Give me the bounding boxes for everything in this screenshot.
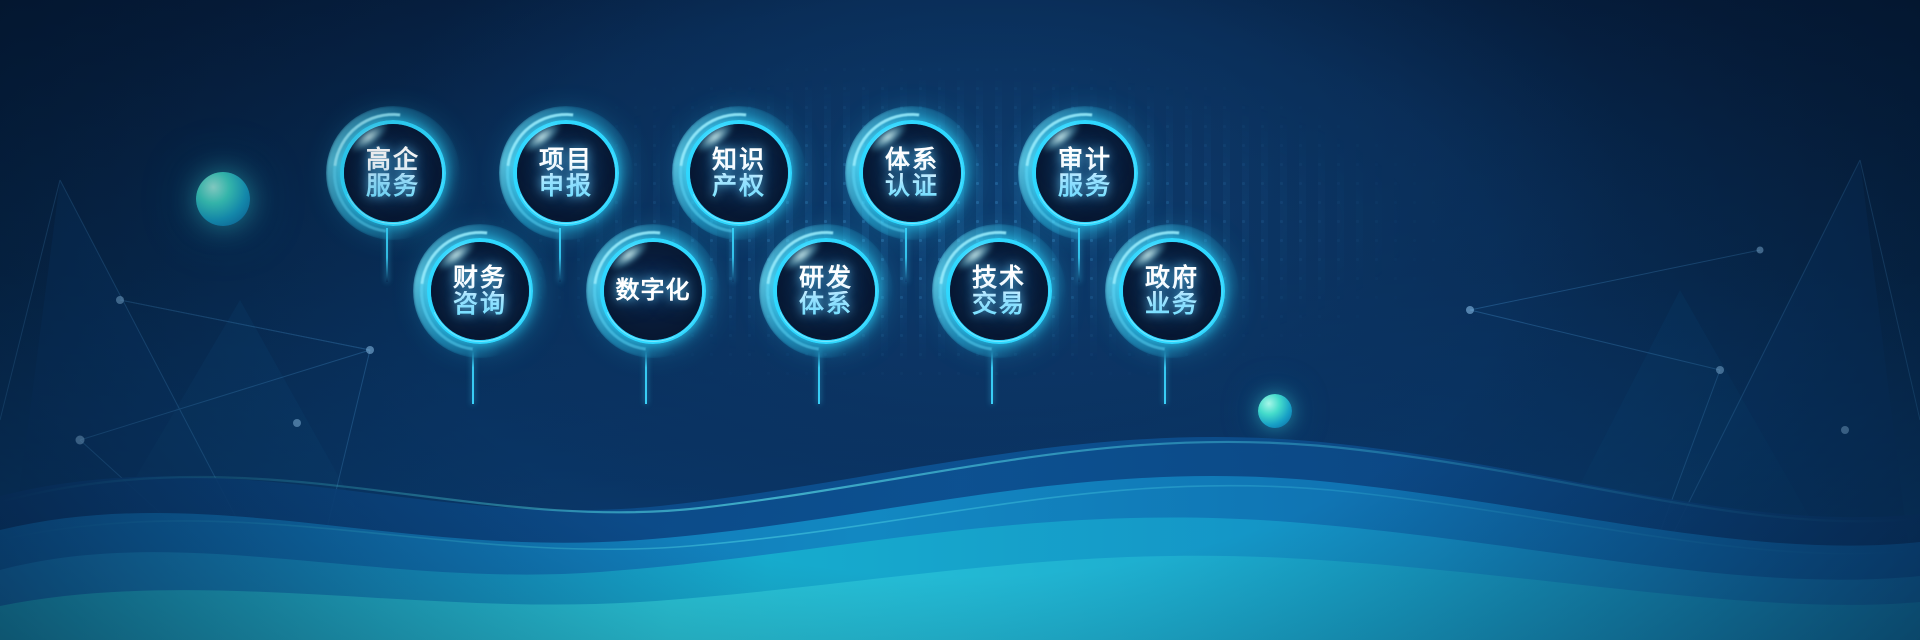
service-node-zhengfu-yewu[interactable]: 政府业务 <box>1119 238 1225 344</box>
wave-decoration <box>0 410 1920 640</box>
service-node-yanfa-tixi[interactable]: 研发体系 <box>773 238 879 344</box>
node-label-line2: 认证 <box>885 173 939 200</box>
node-label-line2: 咨询 <box>453 291 507 318</box>
service-node-xiangmu-shenbao[interactable]: 项目申报 <box>513 120 619 226</box>
node-label-line1: 政府 <box>1145 265 1199 292</box>
service-node-shuzihua[interactable]: 数字化 <box>600 238 706 344</box>
service-node-jishu-jiaoyi[interactable]: 技术交易 <box>946 238 1052 344</box>
node-label-line2: 服务 <box>366 173 420 200</box>
node-label-line2: 服务 <box>1058 173 1112 200</box>
node-label-line1: 审计 <box>1058 147 1112 174</box>
node-label-line1: 数字化 <box>616 278 691 303</box>
node-label-line1: 研发 <box>799 265 853 292</box>
node-label-line1: 技术 <box>972 265 1026 292</box>
node-label-line1: 知识 <box>712 147 766 174</box>
service-node-tixi-renzheng[interactable]: 体系认证 <box>859 120 965 226</box>
service-node-caiwu-zixun[interactable]: 财务咨询 <box>427 238 533 344</box>
node-label-line1: 项目 <box>539 147 593 174</box>
node-label-line2: 业务 <box>1145 291 1199 318</box>
service-node-zhishi-chanquan[interactable]: 知识产权 <box>686 120 792 226</box>
service-node-shenji-fuwu[interactable]: 审计服务 <box>1032 120 1138 226</box>
node-label-line1: 财务 <box>453 265 507 292</box>
node-label-line2: 申报 <box>539 173 593 200</box>
banner-stage: 高企服务 项目申报 知识产权 <box>0 0 1920 640</box>
node-label-line2: 产权 <box>712 173 766 200</box>
node-label-line1: 高企 <box>366 147 420 174</box>
node-label-line2: 交易 <box>972 291 1026 318</box>
service-node-gaoqi-fuwu[interactable]: 高企服务 <box>340 120 446 226</box>
node-label-line1: 体系 <box>885 147 939 174</box>
node-label-line2: 体系 <box>799 291 853 318</box>
